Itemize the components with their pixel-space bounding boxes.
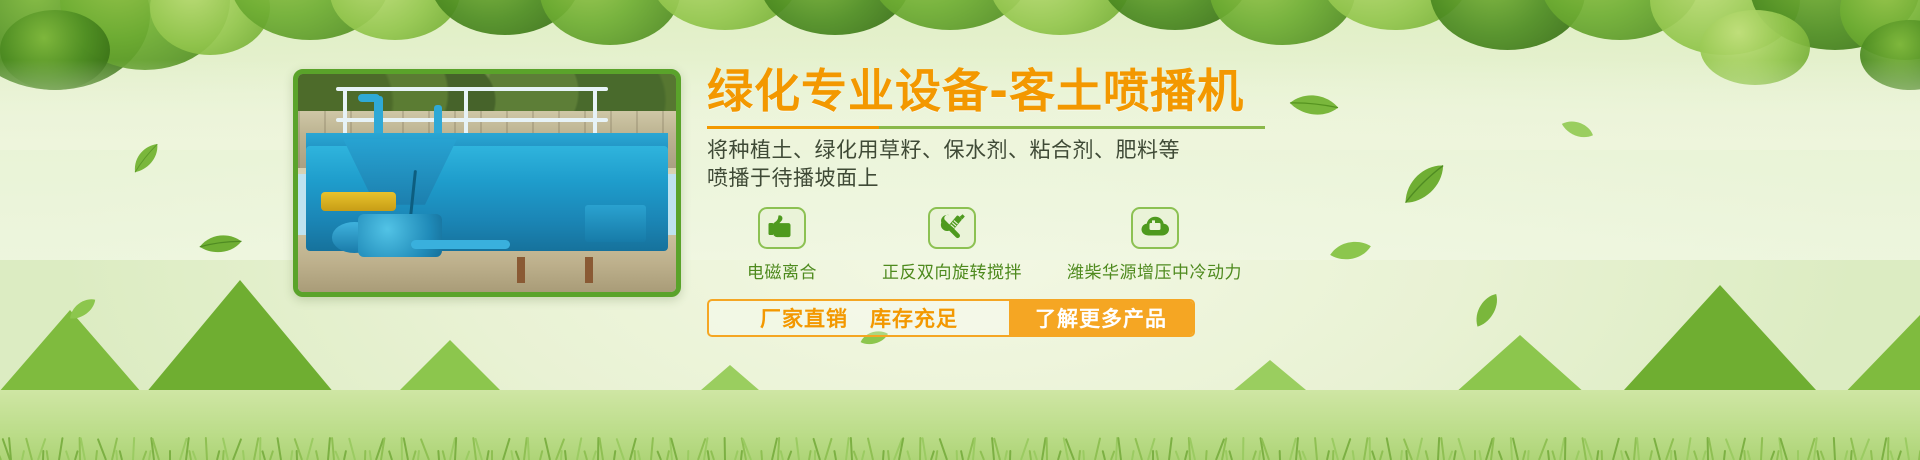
banner-content: 绿化专业设备-客土喷播机 将种植土、绿化用草籽、保水剂、粘合剂、肥料等 喷播于待… — [707, 66, 1407, 337]
feature-item-engine: 潍柴华源增压中冷动力 — [1047, 207, 1262, 283]
promo-banner: 绿化专业设备-客土喷播机 将种植土、绿化用草籽、保水剂、粘合剂、肥料等 喷播于待… — [0, 0, 1920, 460]
page-title: 绿化专业设备-客土喷播机 — [707, 66, 1407, 118]
cta-tag-in-stock: 库存充足 — [870, 303, 958, 333]
feature-item-mixing: 正反双向旋转搅拌 — [857, 207, 1047, 283]
cta-tags: 厂家直销 库存充足 — [709, 301, 1009, 335]
title-divider — [707, 126, 1265, 129]
cta-tag-direct-sale: 厂家直销 — [760, 303, 848, 333]
thumbs-up-icon — [768, 214, 796, 242]
feature-icon-box — [928, 207, 976, 249]
cta-bar: 厂家直销 库存充足 了解更多产品 — [707, 299, 1195, 337]
wrench-screwdriver-icon — [938, 213, 966, 243]
banner-subtitle: 将种植土、绿化用草籽、保水剂、粘合剂、肥料等 喷播于待播坡面上 — [707, 136, 1407, 194]
feature-icon-box — [758, 207, 806, 249]
engine-power-icon — [1140, 214, 1170, 242]
feature-icon-box — [1131, 207, 1179, 249]
feature-list: 电磁离合 — [707, 207, 1407, 283]
feature-label: 正反双向旋转搅拌 — [882, 258, 1022, 283]
feature-label: 潍柴华源增压中冷动力 — [1067, 258, 1242, 283]
product-photo — [293, 69, 681, 297]
feature-label: 电磁离合 — [747, 258, 817, 283]
subtitle-line-2: 喷播于待播坡面上 — [707, 164, 1407, 193]
learn-more-button[interactable]: 了解更多产品 — [1009, 301, 1193, 335]
subtitle-line-1: 将种植土、绿化用草籽、保水剂、粘合剂、肥料等 — [707, 136, 1407, 165]
feature-item-clutch: 电磁离合 — [707, 207, 857, 283]
